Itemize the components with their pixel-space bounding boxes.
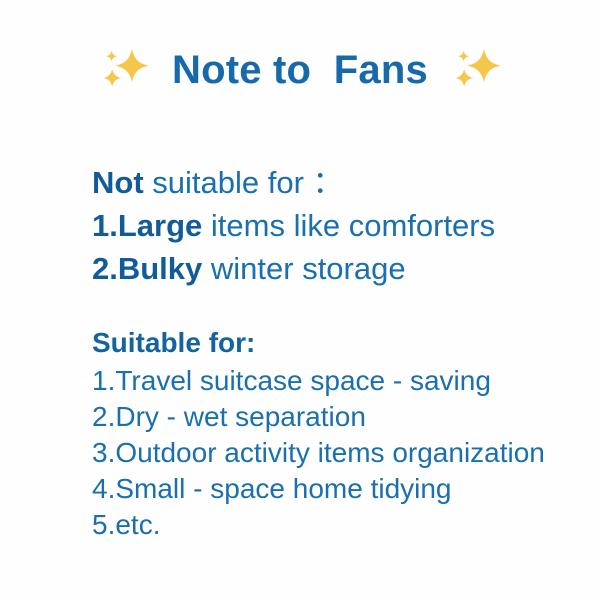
- not-suitable-item: 1.Large items like comforters: [92, 204, 495, 247]
- not-suitable-item-bold: 1.Large: [92, 208, 202, 243]
- header-title-row: Note to Fans: [0, 42, 600, 98]
- not-suitable-item-rest: items like comforters: [202, 208, 495, 243]
- not-suitable-heading: Not suitable for ：: [92, 161, 495, 204]
- suitable-item: 3.Outdoor activity items organization: [92, 435, 545, 471]
- sparkles-icon: [448, 42, 504, 98]
- not-suitable-item-bold: 2.Bulky: [92, 251, 202, 286]
- suitable-heading: Suitable for:: [92, 325, 545, 361]
- suitable-item: 1.Travel suitcase space - saving: [92, 363, 545, 399]
- not-suitable-item: 2.Bulky winter storage: [92, 247, 495, 290]
- not-suitable-section: Not suitable for ： 1.Large items like co…: [92, 161, 495, 290]
- page-title: Note to Fans: [172, 48, 428, 92]
- sparkles-icon: [96, 42, 152, 98]
- not-suitable-item-rest: winter storage: [202, 251, 405, 286]
- not-suitable-heading-bold: Not: [92, 165, 144, 200]
- suitable-section: Suitable for: 1.Travel suitcase space - …: [92, 325, 545, 543]
- suitable-item: 5.etc.: [92, 507, 545, 543]
- suitable-item: 2.Dry - wet separation: [92, 399, 545, 435]
- note-to-fans-card: Note to Fans Not suitable for ： 1.Large …: [0, 0, 600, 600]
- not-suitable-heading-rest: suitable for ：: [144, 165, 344, 200]
- suitable-item: 4.Small - space home tidying: [92, 471, 545, 507]
